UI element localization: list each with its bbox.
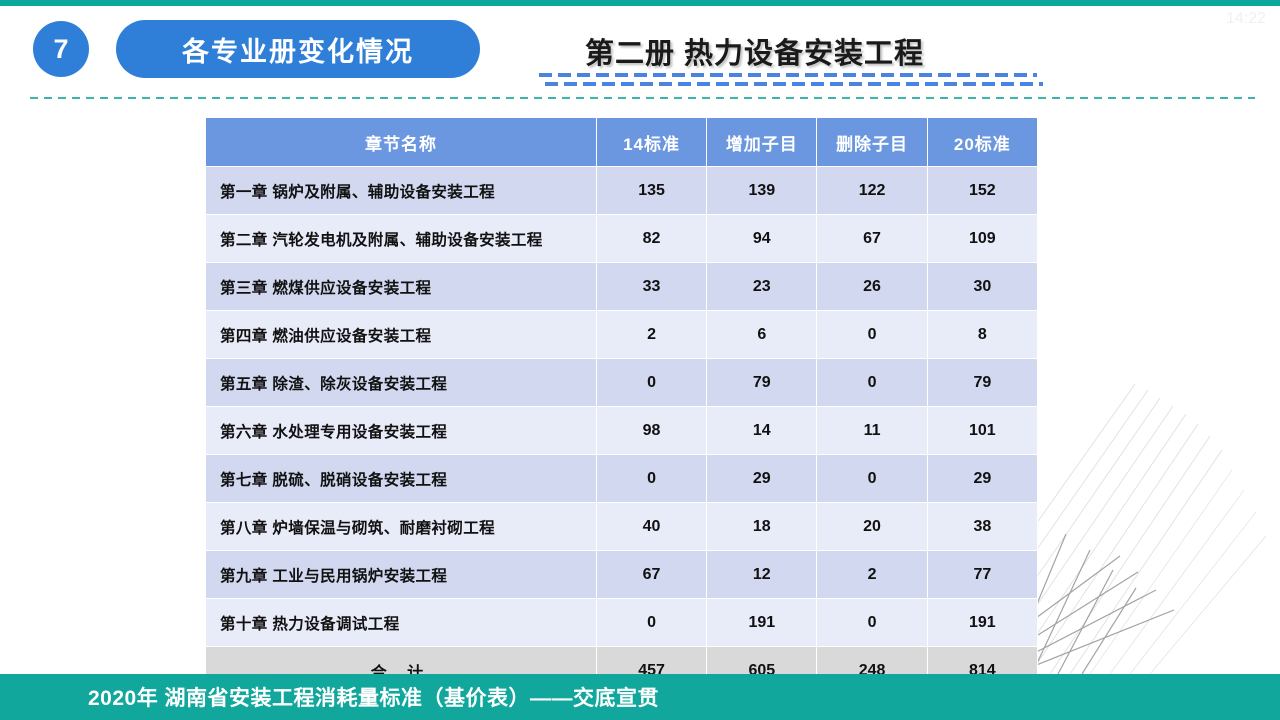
cell-added: 23 <box>707 263 817 311</box>
cell-std20: 191 <box>927 599 1037 647</box>
cell-std20: 8 <box>927 311 1037 359</box>
cell-std20: 152 <box>927 167 1037 215</box>
cell-chapter-name: 第六章 水处理专用设备安装工程 <box>206 407 597 455</box>
cell-std20: 77 <box>927 551 1037 599</box>
table-row: 第二章 汽轮发电机及附属、辅助设备安装工程 82 94 67 109 <box>206 215 1038 263</box>
cell-added: 6 <box>707 311 817 359</box>
cell-std20: 109 <box>927 215 1037 263</box>
cell-removed: 122 <box>817 167 927 215</box>
cell-chapter-name: 第七章 脱硫、脱硝设备安装工程 <box>206 455 597 503</box>
cell-added: 94 <box>707 215 817 263</box>
cell-removed: 11 <box>817 407 927 455</box>
cell-std14: 0 <box>596 599 706 647</box>
col-header-std20: 20标准 <box>927 118 1037 167</box>
cell-removed: 20 <box>817 503 927 551</box>
cell-std20: 79 <box>927 359 1037 407</box>
cell-removed: 0 <box>817 311 927 359</box>
table-row: 第七章 脱硫、脱硝设备安装工程 0 29 0 29 <box>206 455 1038 503</box>
table-header-row: 章节名称 14标准 增加子目 删除子目 20标准 <box>206 118 1038 167</box>
cell-std14: 2 <box>596 311 706 359</box>
cell-std14: 98 <box>596 407 706 455</box>
cell-std14: 67 <box>596 551 706 599</box>
clock-label: 14:22 <box>1226 10 1266 28</box>
cell-added: 79 <box>707 359 817 407</box>
col-header-removed-items: 删除子目 <box>817 118 927 167</box>
cell-std14: 0 <box>596 455 706 503</box>
col-header-chapter-name: 章节名称 <box>206 118 597 167</box>
col-header-std14: 14标准 <box>596 118 706 167</box>
cell-std20: 29 <box>927 455 1037 503</box>
cell-std14: 135 <box>596 167 706 215</box>
cell-removed: 67 <box>817 215 927 263</box>
cell-std14: 40 <box>596 503 706 551</box>
cell-std14: 82 <box>596 215 706 263</box>
table-row: 第三章 燃煤供应设备安装工程 33 23 26 30 <box>206 263 1038 311</box>
changes-table-container: 章节名称 14标准 增加子目 删除子目 20标准 第一章 锅炉及附属、辅助设备安… <box>205 117 1038 696</box>
cell-std20: 101 <box>927 407 1037 455</box>
table-row: 第五章 除渣、除灰设备安装工程 0 79 0 79 <box>206 359 1038 407</box>
cell-chapter-name: 第二章 汽轮发电机及附属、辅助设备安装工程 <box>206 215 597 263</box>
title-underline-lower <box>545 82 1043 86</box>
cell-std14: 0 <box>596 359 706 407</box>
cell-removed: 2 <box>817 551 927 599</box>
cell-chapter-name: 第三章 燃煤供应设备安装工程 <box>206 263 597 311</box>
cell-chapter-name: 第九章 工业与民用锅炉安装工程 <box>206 551 597 599</box>
cell-added: 12 <box>707 551 817 599</box>
page-title: 第二册 热力设备安装工程 <box>585 30 924 72</box>
changes-table: 章节名称 14标准 增加子目 删除子目 20标准 第一章 锅炉及附属、辅助设备安… <box>205 117 1038 696</box>
table-row: 第一章 锅炉及附属、辅助设备安装工程 135 139 122 152 <box>206 167 1038 215</box>
cell-std14: 33 <box>596 263 706 311</box>
cell-added: 139 <box>707 167 817 215</box>
cell-added: 14 <box>707 407 817 455</box>
cell-removed: 0 <box>817 359 927 407</box>
cell-added: 18 <box>707 503 817 551</box>
cell-std20: 30 <box>927 263 1037 311</box>
table-row: 第八章 炉墙保温与砌筑、耐磨衬砌工程 40 18 20 38 <box>206 503 1038 551</box>
cell-removed: 26 <box>817 263 927 311</box>
table-row: 第十章 热力设备调试工程 0 191 0 191 <box>206 599 1038 647</box>
title-underline-upper <box>539 73 1037 77</box>
cell-removed: 0 <box>817 599 927 647</box>
cell-chapter-name: 第十章 热力设备调试工程 <box>206 599 597 647</box>
cell-added: 191 <box>707 599 817 647</box>
table-row: 第六章 水处理专用设备安装工程 98 14 11 101 <box>206 407 1038 455</box>
cell-removed: 0 <box>817 455 927 503</box>
cell-added: 29 <box>707 455 817 503</box>
table-row: 第四章 燃油供应设备安装工程 2 6 0 8 <box>206 311 1038 359</box>
cell-chapter-name: 第四章 燃油供应设备安装工程 <box>206 311 597 359</box>
table-row: 第九章 工业与民用锅炉安装工程 67 12 2 77 <box>206 551 1038 599</box>
col-header-added-items: 增加子目 <box>707 118 817 167</box>
cell-chapter-name: 第八章 炉墙保温与砌筑、耐磨衬砌工程 <box>206 503 597 551</box>
section-number-badge: 7 <box>33 21 89 77</box>
footer-label: 2020年 湖南省安装工程消耗量标准（基价表）——交底宣贯 <box>88 682 659 712</box>
cell-std20: 38 <box>927 503 1037 551</box>
section-title-pill: 各专业册变化情况 <box>116 20 480 78</box>
cell-chapter-name: 第五章 除渣、除灰设备安装工程 <box>206 359 597 407</box>
header-divider <box>30 97 1255 99</box>
cell-chapter-name: 第一章 锅炉及附属、辅助设备安装工程 <box>206 167 597 215</box>
table-body: 第一章 锅炉及附属、辅助设备安装工程 135 139 122 152 第二章 汽… <box>206 167 1038 696</box>
top-accent-strip <box>0 0 1280 6</box>
